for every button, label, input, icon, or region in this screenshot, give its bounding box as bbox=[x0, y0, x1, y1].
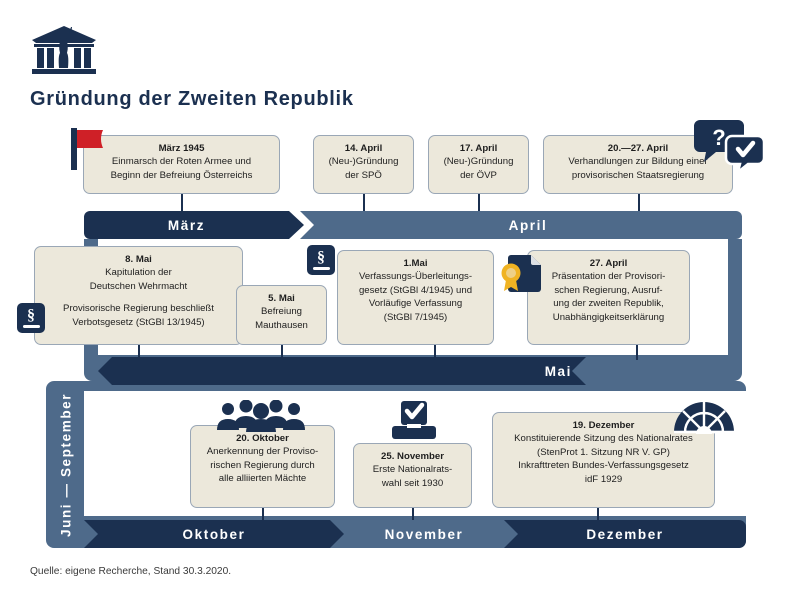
event-line: Präsentation der Provisori- bbox=[552, 271, 666, 282]
event-line: der SPÖ bbox=[345, 170, 382, 181]
event-line: Beginn der Befreiung Österreichs bbox=[111, 170, 253, 181]
event-line: wahl seit 1930 bbox=[382, 478, 443, 489]
people-group-icon bbox=[216, 400, 306, 437]
month-bar-oktober: Oktober bbox=[84, 520, 344, 548]
event-card[interactable]: 25. November Erste Nationalrats- wahl se… bbox=[353, 443, 472, 508]
month-bar-label: Mai bbox=[545, 364, 572, 379]
event-line: (StenProt 1. Sitzung NR V. GP) bbox=[537, 447, 670, 458]
event-card[interactable]: 5. Mai Befreiung Mauthausen bbox=[236, 285, 327, 345]
month-bar-label: April bbox=[509, 218, 548, 233]
event-card[interactable]: 17. April (Neu-)Gründung der ÖVP bbox=[428, 135, 529, 194]
event-line: Anerkennung der Proviso- bbox=[207, 446, 318, 457]
paragraph-glyph: § bbox=[317, 250, 325, 265]
event-line: gesetz (StGBl 4/1945) und bbox=[359, 285, 472, 296]
event-line: der ÖVP bbox=[460, 170, 497, 181]
month-bar-dezember: Dezember bbox=[504, 520, 746, 548]
paragraph-underline bbox=[313, 267, 330, 271]
event-line: Konstituierende Sitzung des Nationalrate… bbox=[514, 433, 693, 444]
period-label-juni-september: Juni — September bbox=[48, 383, 84, 546]
month-bar-november: November bbox=[344, 520, 504, 548]
event-date: 14. April bbox=[321, 142, 406, 155]
parliament-hemicycle-icon bbox=[672, 400, 736, 439]
event-line: Verbotsgesetz (StGBl 13/1945) bbox=[72, 317, 204, 328]
event-line: (StGBl 7/1945) bbox=[384, 312, 447, 323]
event-line: Deutschen Wehrmacht bbox=[90, 281, 187, 292]
source-note: Quelle: eigene Recherche, Stand 30.3.202… bbox=[30, 566, 231, 577]
month-bar-label: Oktober bbox=[183, 527, 246, 542]
svg-text:?: ? bbox=[712, 125, 725, 150]
card-stem bbox=[638, 193, 640, 213]
event-line: Erste Nationalrats- bbox=[373, 464, 452, 475]
card-stem bbox=[262, 508, 264, 522]
card-stem bbox=[597, 508, 599, 522]
event-line: Verhandlungen zur Bildung einer bbox=[568, 156, 707, 167]
month-bar-label: Dezember bbox=[586, 527, 663, 542]
event-line: idF 1929 bbox=[585, 474, 622, 485]
red-flag-icon bbox=[71, 128, 105, 175]
event-line: alle alliierten Mächte bbox=[219, 473, 306, 484]
event-line: Provisorische Regierung beschließt bbox=[63, 303, 214, 314]
month-bar-label: November bbox=[385, 527, 464, 542]
event-line: Einmarsch der Roten Armee und bbox=[112, 156, 251, 167]
card-stem bbox=[478, 193, 480, 213]
event-card[interactable]: März 1945 Einmarsch der Roten Armee und … bbox=[83, 135, 280, 194]
ballot-box-icon bbox=[392, 400, 436, 445]
card-stem bbox=[412, 508, 414, 522]
event-line: schen Regierung, Ausruf- bbox=[554, 285, 662, 296]
card-stem bbox=[181, 193, 183, 213]
card-stem bbox=[363, 193, 365, 213]
parliament-building-logo bbox=[28, 24, 100, 76]
period-label-text: Juni — September bbox=[59, 392, 74, 536]
event-card[interactable]: 1.Mai Verfassungs-Überleitungs- gesetz (… bbox=[337, 250, 494, 345]
month-bar-label: März bbox=[168, 218, 205, 233]
event-line: Befreiung bbox=[261, 306, 302, 317]
event-line: ung der zweiten Republik, bbox=[553, 298, 663, 309]
event-card[interactable]: 8. Mai Kapitulation der Deutschen Wehrma… bbox=[34, 246, 243, 345]
event-line: (Neu-)Gründung bbox=[329, 156, 399, 167]
page-title: Gründung der Zweiten Republik bbox=[30, 88, 354, 111]
card-stem bbox=[636, 344, 638, 360]
month-bar-maerz: März bbox=[84, 211, 304, 239]
event-date: März 1945 bbox=[91, 142, 272, 155]
event-date: 8. Mai bbox=[42, 253, 235, 266]
paragraph-glyph: § bbox=[27, 308, 35, 323]
event-line: rischen Regierung durch bbox=[210, 460, 315, 471]
event-card[interactable]: 14. April (Neu-)Gründung der SPÖ bbox=[313, 135, 414, 194]
paragraph-law-icon: § bbox=[307, 245, 335, 275]
event-line: Inkrafttreten Bundes-Verfassungsgesetz bbox=[518, 460, 689, 471]
event-line: provisorischen Staatsregierung bbox=[572, 170, 704, 181]
event-line: Verfassungs-Überleitungs- bbox=[359, 271, 472, 282]
event-date: 25. November bbox=[361, 450, 464, 463]
event-date: 17. April bbox=[436, 142, 521, 155]
event-date: 1.Mai bbox=[345, 257, 486, 270]
event-line: (Neu-)Gründung bbox=[444, 156, 514, 167]
event-line: Vorläufige Verfassung bbox=[369, 298, 462, 309]
infographic-canvas: Gründung der Zweiten Republik März April… bbox=[0, 0, 800, 600]
event-line: Kapitulation der bbox=[105, 267, 172, 278]
event-card[interactable]: 27. April Präsentation der Provisori- sc… bbox=[527, 250, 690, 345]
month-bar-april: April bbox=[300, 211, 742, 239]
event-line: Unabhängigkeitserklärung bbox=[553, 312, 664, 323]
event-date: 27. April bbox=[535, 257, 682, 270]
paragraph-underline bbox=[23, 325, 40, 329]
event-card[interactable]: 20. Oktober Anerkennung der Proviso- ris… bbox=[190, 425, 335, 508]
event-date: 5. Mai bbox=[244, 292, 319, 305]
month-bar-mai: Mai bbox=[98, 357, 586, 385]
document-seal-icon bbox=[497, 253, 543, 300]
paragraph-law-icon: § bbox=[17, 303, 45, 333]
event-line: Mauthausen bbox=[255, 320, 308, 331]
speech-bubbles-question-check-icon: ? bbox=[694, 118, 764, 177]
